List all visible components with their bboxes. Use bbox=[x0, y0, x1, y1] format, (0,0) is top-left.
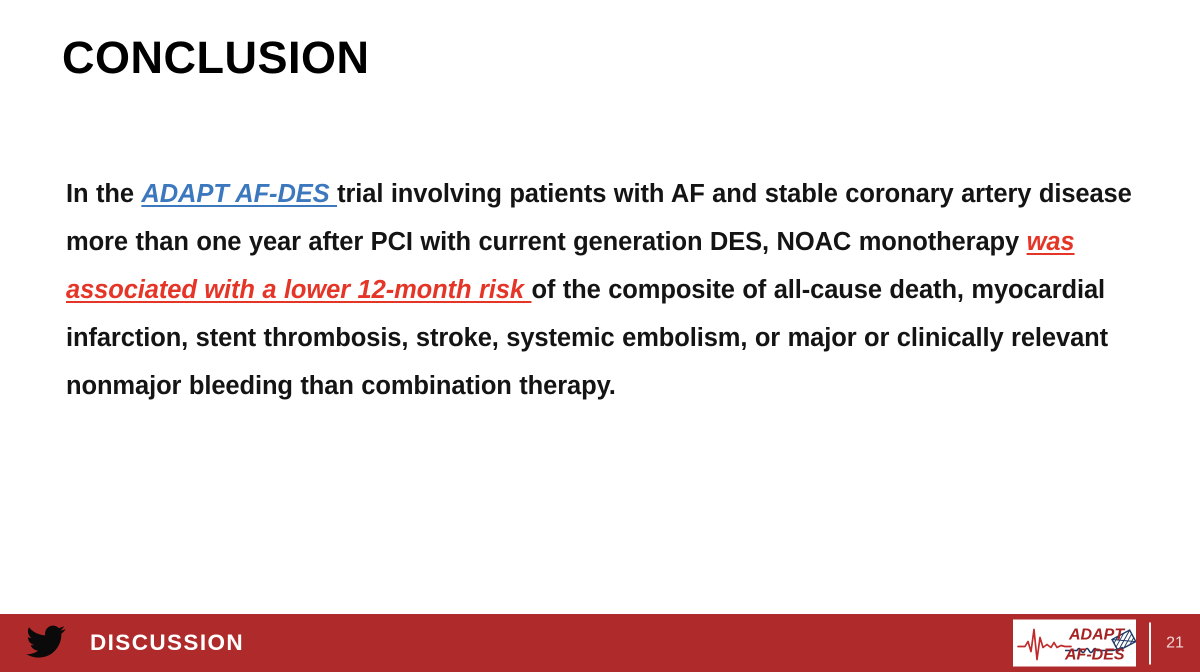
conclusion-body: In the ADAPT AF-DES trial involving pati… bbox=[66, 144, 1134, 435]
footer-section-label: DISCUSSION bbox=[90, 630, 244, 656]
page-title: CONCLUSION bbox=[62, 33, 370, 83]
adapt-af-des-logo: ADAPT AF-DES bbox=[1013, 620, 1136, 667]
twitter-bird-icon[interactable] bbox=[25, 625, 67, 661]
footer-divider bbox=[1149, 622, 1151, 664]
svg-text:ADAPT: ADAPT bbox=[1068, 627, 1125, 644]
conclusion-paragraph: In the ADAPT AF-DES trial involving pati… bbox=[66, 170, 1134, 410]
page-number: 21 bbox=[1164, 634, 1186, 652]
slide-canvas: CONCLUSION In the ADAPT AF-DES trial inv… bbox=[0, 0, 1200, 672]
footer-right-group: ADAPT AF-DES 21 bbox=[1013, 620, 1186, 667]
svg-text:AF-DES: AF-DES bbox=[1064, 647, 1125, 664]
body-segment-1: In the bbox=[66, 180, 141, 208]
footer-bar: DISCUSSION bbox=[0, 614, 1200, 672]
trial-name-link[interactable]: ADAPT AF-DES bbox=[141, 180, 337, 208]
